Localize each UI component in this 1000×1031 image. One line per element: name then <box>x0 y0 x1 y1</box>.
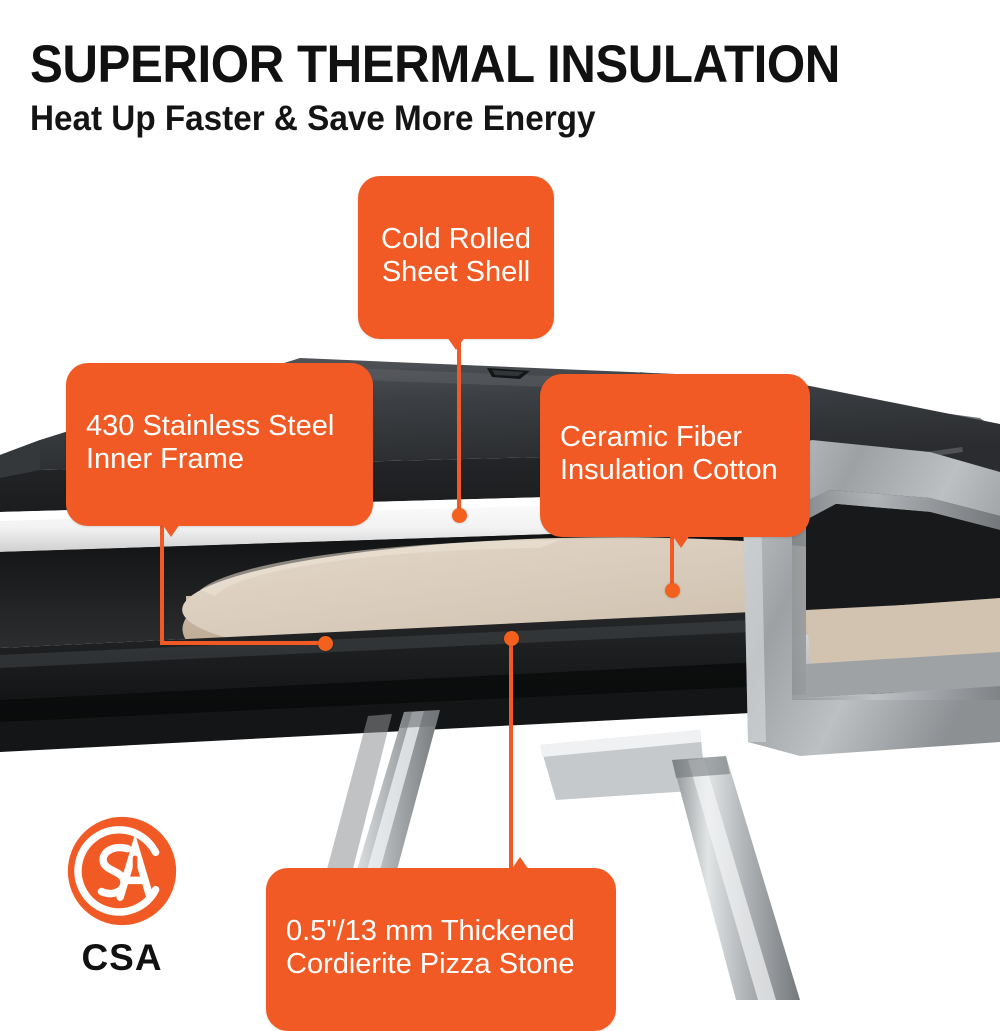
infographic-canvas: SUPERIOR THERMAL INSULATION Heat Up Fast… <box>0 0 1000 1000</box>
leader-line-pizza-stone <box>509 638 513 870</box>
callout-label: Ceramic Fiber Insulation Cotton <box>560 421 778 487</box>
leader-dot-pizza-stone <box>504 631 519 646</box>
callout-label: 0.5"/13 mm Thickened Cordierite Pizza St… <box>286 915 575 981</box>
oven-leg-left-joint <box>400 710 440 728</box>
callout-cold-rolled-sheet-shell[interactable]: Cold Rolled Sheet Shell <box>358 176 554 339</box>
leader-line-inner-frame-horizontal <box>160 641 328 645</box>
callout-ceramic-fiber-insulation-cotton[interactable]: Ceramic Fiber Insulation Cotton <box>540 374 810 537</box>
leader-dot-cold-rolled-sheet-shell <box>452 508 467 523</box>
callout-430-stainless-steel-inner-frame[interactable]: 430 Stainless Steel Inner Frame <box>66 363 373 526</box>
callout-label: Cold Rolled Sheet Shell <box>381 223 531 289</box>
callout-label: 430 Stainless Steel Inner Frame <box>86 410 334 476</box>
csa-logo-icon <box>66 815 178 927</box>
certification-badge: CSA <box>52 815 192 979</box>
certification-label: CSA <box>52 937 192 979</box>
callout-tail-icon <box>447 337 465 350</box>
callout-tail-icon <box>162 524 180 537</box>
leader-dot-ceramic-fiber <box>665 583 680 598</box>
leader-dot-inner-frame <box>318 636 333 651</box>
callout-cordierite-pizza-stone[interactable]: 0.5"/13 mm Thickened Cordierite Pizza St… <box>266 868 616 1031</box>
callout-tail-icon <box>511 857 529 870</box>
callout-tail-icon <box>672 535 690 548</box>
